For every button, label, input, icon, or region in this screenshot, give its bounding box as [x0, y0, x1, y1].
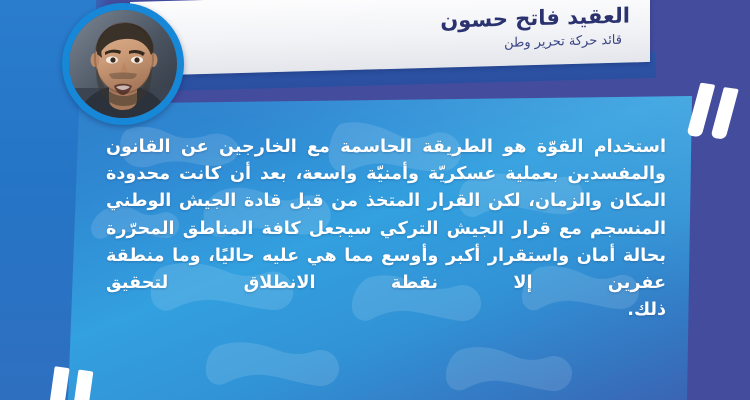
quote-body-text: استخدام القوّة هو الطريقة الحاسمة مع الخ…: [106, 137, 666, 293]
speaker-role: قائد حركة تحرير وطن: [504, 32, 622, 51]
quote-body: استخدام القوّة هو الطريقة الحاسمة مع الخ…: [106, 134, 666, 324]
avatar-photo: [69, 10, 177, 118]
quote-panel: استخدام القوّة هو الطريقة الحاسمة مع الخ…: [68, 96, 692, 400]
quote-tail-text: ذلك.: [106, 297, 666, 324]
avatar: [62, 3, 184, 125]
speaker-name: العقيد فاتح حسون: [440, 3, 630, 32]
quote-card-graphic: استخدام القوّة هو الطريقة الحاسمة مع الخ…: [0, 0, 750, 400]
